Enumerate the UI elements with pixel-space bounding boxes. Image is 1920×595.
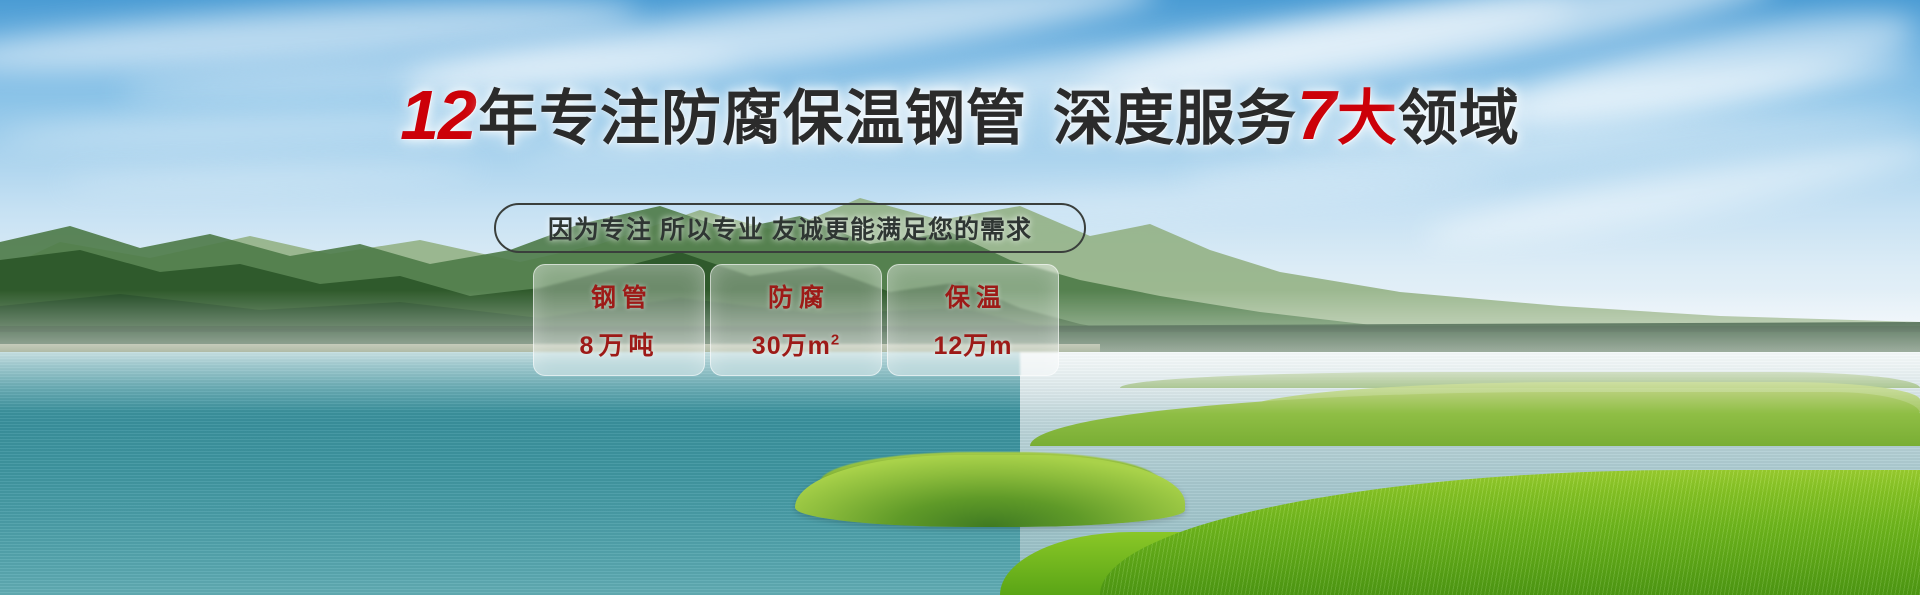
- stat-card-title: 保温: [939, 278, 1007, 314]
- stat-card-value: 8万吨: [580, 326, 659, 362]
- stat-card-steel-pipe[interactable]: 钢管 8万吨: [533, 264, 705, 376]
- subtitle-pill: 因为专注 所以专业 友诚更能满足您的需求: [494, 203, 1086, 253]
- stat-card-title: 防腐: [762, 278, 830, 314]
- promo-banner: 12年专注防腐保温钢管深度服务7大领域 因为专注 所以专业 友诚更能满足您的需求…: [0, 0, 1920, 595]
- headline-part3: 大: [1337, 85, 1398, 152]
- headline: 12年专注防腐保温钢管深度服务7大领域: [0, 84, 1920, 150]
- stat-value-unit: 万吨: [598, 332, 658, 360]
- headline-fields-number: 7: [1297, 76, 1337, 154]
- headline-part4: 领域: [1398, 85, 1520, 152]
- stat-card-value: 12万m: [933, 326, 1012, 362]
- stat-card-title: 钢管: [585, 278, 653, 314]
- stat-card-value: 30万m2: [752, 326, 840, 362]
- subtitle-text: 因为专注 所以专业 友诚更能满足您的需求: [548, 210, 1032, 246]
- stat-card-group: 钢管 8万吨 防腐 30万m2 保温 12万m: [533, 264, 1059, 376]
- stat-value-number: 8: [580, 332, 599, 360]
- stat-value-unit: 万m: [963, 332, 1012, 360]
- headline-part1: 年专注防腐保温钢管: [478, 85, 1027, 152]
- stat-card-insulation[interactable]: 保温 12万m: [887, 264, 1059, 376]
- stat-value-unit: 万m: [782, 332, 831, 360]
- headline-years-number: 12: [400, 76, 478, 154]
- headline-part2: 深度服务: [1053, 85, 1297, 152]
- stat-card-anticorrosion[interactable]: 防腐 30万m2: [710, 264, 882, 376]
- stat-value-number: 12: [933, 332, 963, 360]
- stat-value-superscript: 2: [831, 332, 840, 349]
- stat-value-number: 30: [752, 332, 782, 360]
